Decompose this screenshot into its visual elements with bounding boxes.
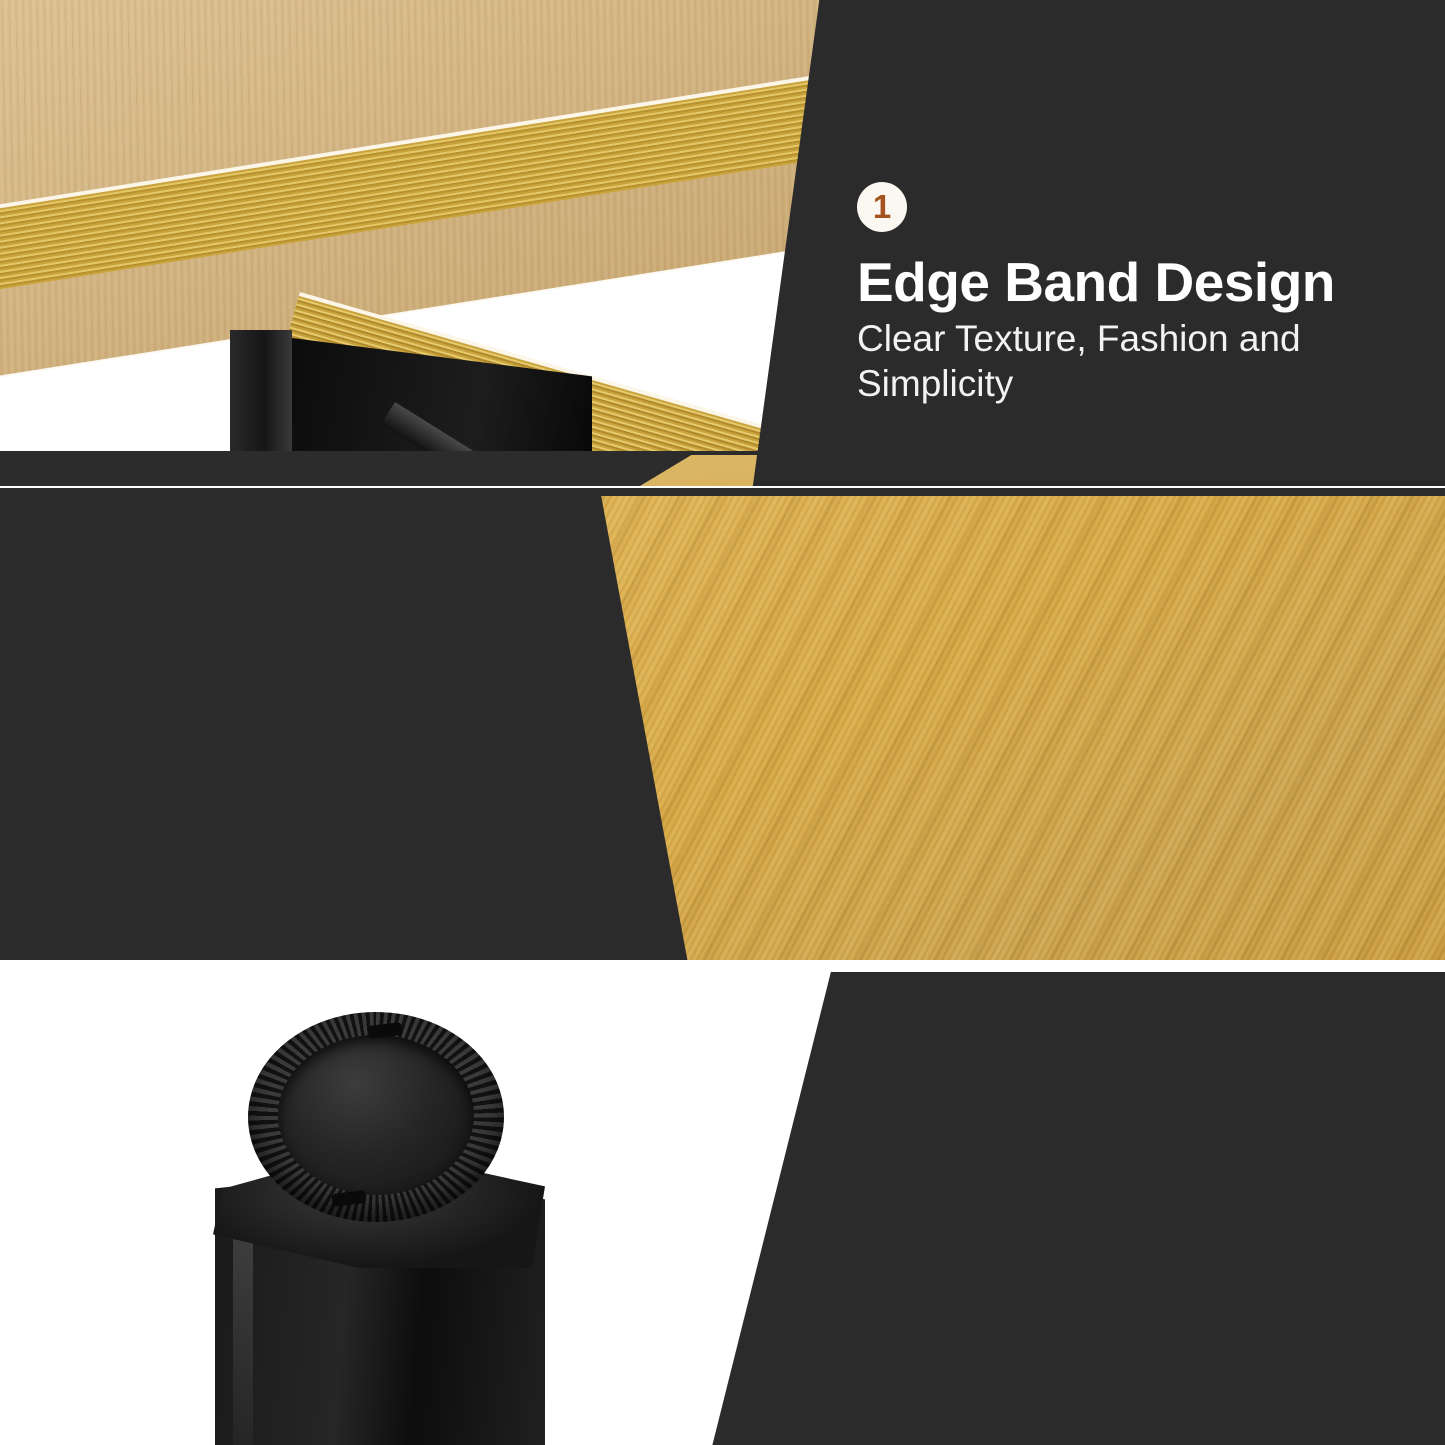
feature-panel-1: 1 Edge Band Design Clear Texture, Fashio…: [0, 0, 1445, 486]
feature-1-title: Edge Band Design: [857, 254, 1387, 312]
feature-panel-2: 2 E1 Particle Board Made of high-quality…: [0, 488, 1445, 970]
particle-board-photo: [0, 488, 1445, 970]
feature-1-subtitle: Clear Texture, Fashion and Simplicity: [857, 316, 1317, 406]
feature-1-number-badge: 1: [857, 182, 907, 232]
adjustable-foot-photo: [0, 972, 1445, 1445]
adjuster-inner-disc: [278, 1035, 474, 1195]
feature-panel-3: 3 Bottom Adjustable Protect floors and e…: [0, 972, 1445, 1445]
panel-2-top-strip: [0, 488, 1445, 496]
panel-2-bottom-strip: [0, 960, 1445, 970]
product-feature-infographic: 1 Edge Band Design Clear Texture, Fashio…: [0, 0, 1445, 1445]
feature-1-text-block: 1 Edge Band Design Clear Texture, Fashio…: [857, 182, 1387, 406]
